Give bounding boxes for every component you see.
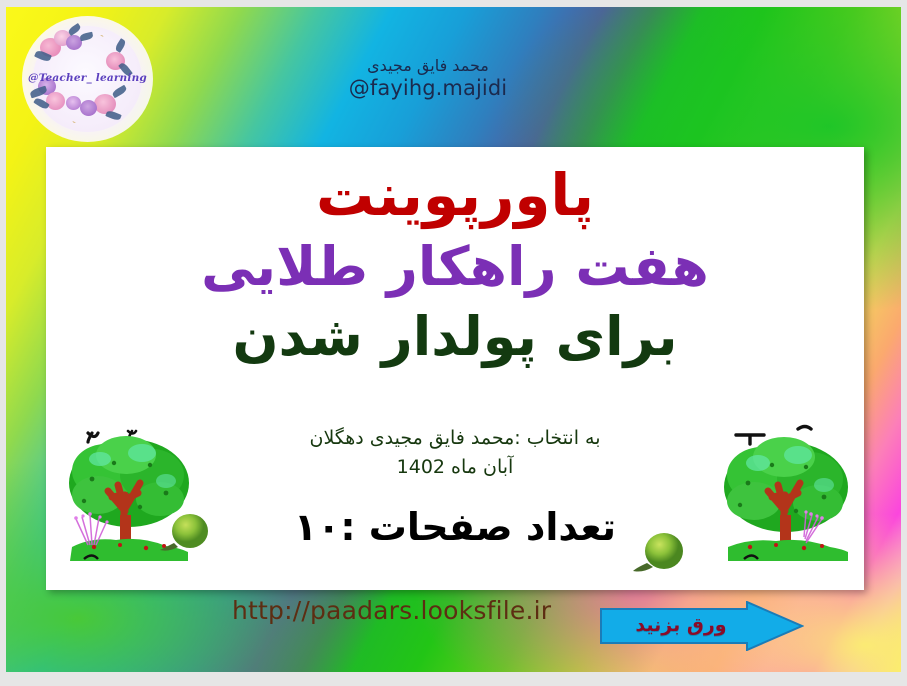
title-line-3: برای پولدار شدن — [46, 305, 864, 369]
slide-stage: @Teacher_ learning محمد فایق مجیدی @fayi… — [0, 0, 907, 686]
footer-url[interactable]: http://paadars.looksfile.ir — [232, 596, 551, 625]
title-group: پاورپوینت هفت راهکار طلایی برای پولدار ش… — [46, 161, 864, 369]
tree-right-icon — [706, 413, 866, 573]
badge-label: @Teacher_ learning — [22, 72, 153, 84]
slide-card: پاورپوینت هفت راهکار طلایی برای پولدار ش… — [46, 147, 864, 590]
flower-icon — [66, 96, 81, 110]
flower-icon — [80, 100, 97, 116]
apple-right-icon — [632, 525, 688, 577]
title-line-2: هفت راهکار طلایی — [46, 235, 864, 299]
author-name: محمد فایق مجیدی — [323, 56, 533, 76]
flower-icon — [46, 92, 65, 110]
teacher-learning-badge: @Teacher_ learning — [22, 16, 153, 142]
author-handle: @fayihg.majidi — [323, 76, 533, 102]
next-page-button[interactable]: ورق بزنید — [599, 601, 804, 651]
author-header: محمد فایق مجیدی @fayihg.majidi — [323, 56, 533, 101]
next-page-label: ورق بزنید — [621, 614, 741, 636]
title-line-1: پاورپوینت — [46, 161, 864, 229]
tree-left-icon — [54, 419, 214, 579]
